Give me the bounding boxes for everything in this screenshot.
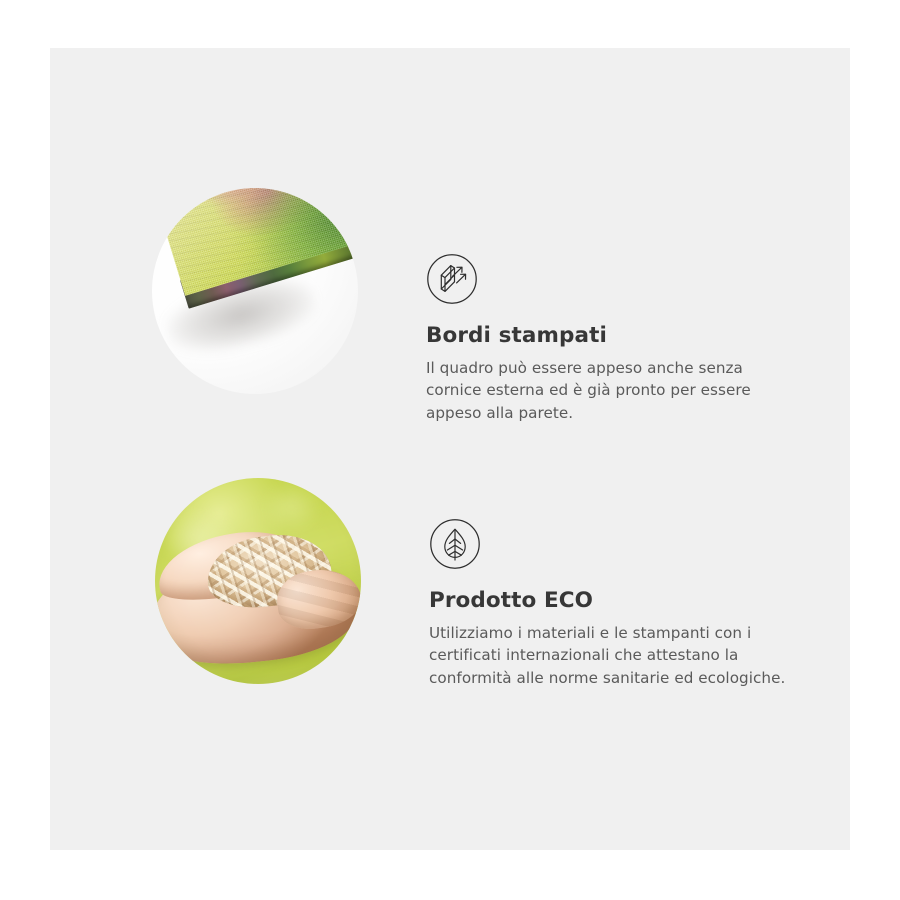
feature-copy-printed-edges: Bordi stampati Il quadro può essere appe… [426, 188, 798, 425]
content-panel: Bordi stampati Il quadro può essere appe… [50, 48, 850, 850]
feature-block-printed-edges: Bordi stampati Il quadro può essere appe… [152, 188, 798, 425]
feature-description: Il quadro può essere appeso anche senza … [426, 357, 798, 425]
photo-backdrop [152, 188, 358, 394]
feature-title: Prodotto ECO [429, 588, 801, 614]
canvas-print-corner-photo [152, 188, 358, 394]
product-feature-banner: Bordi stampati Il quadro può essere appe… [0, 0, 900, 900]
hands-with-wood-chips-photo [155, 478, 361, 684]
feature-description: Utilizziamo i materiali e le stampanti c… [429, 622, 801, 690]
feature-copy-eco-product: Prodotto ECO Utilizziamo i materiali e l… [429, 478, 801, 690]
feature-block-eco-product: Prodotto ECO Utilizziamo i materiali e l… [155, 478, 801, 690]
printed-edges-icon [426, 253, 478, 305]
photo-vignette [155, 478, 361, 684]
leaf-icon [429, 518, 481, 570]
feature-title: Bordi stampati [426, 323, 798, 349]
photo-backdrop [155, 478, 361, 684]
